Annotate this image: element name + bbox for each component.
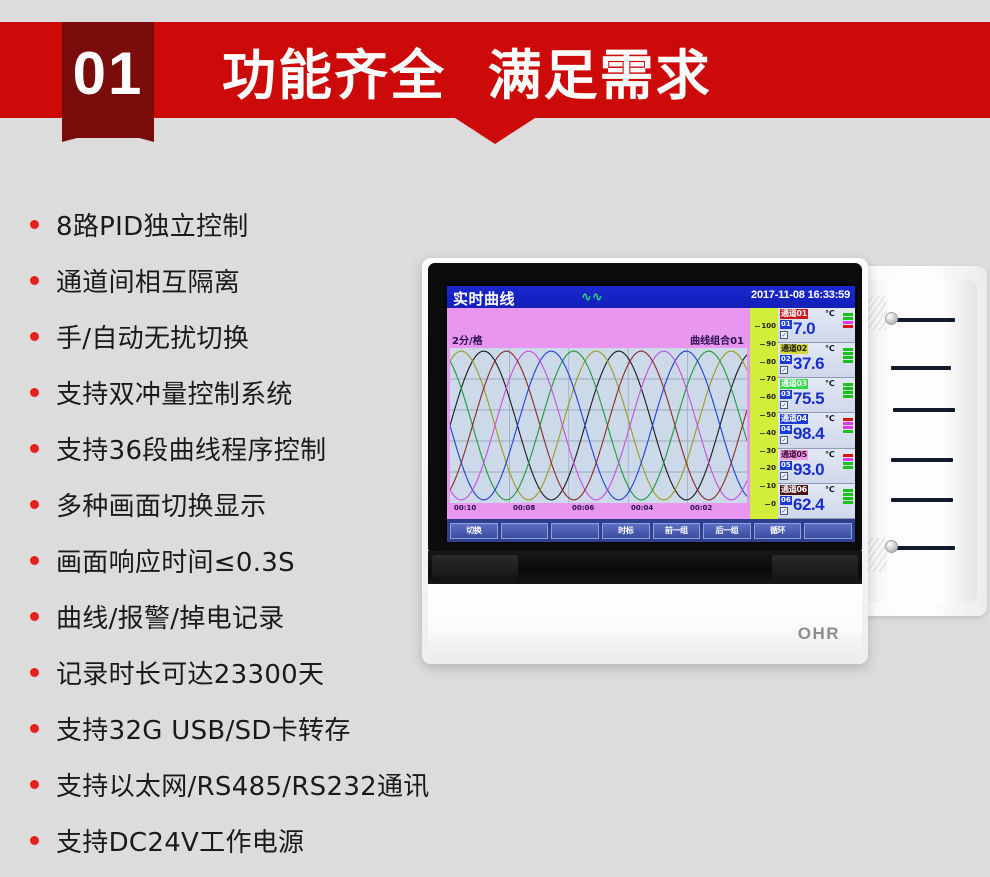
alarm-bar-segment [843,501,853,504]
channel-index: 02 [780,355,792,364]
alarm-bar-segment [843,430,853,433]
alarm-bar-segment [843,426,853,429]
y-tick-label: 30 [766,447,776,455]
terminal-screw [885,312,898,325]
list-item: 通道间相互隔离 [30,252,460,308]
channel-index: 06 [780,496,792,505]
x-tick-label: 00:06 [572,504,594,512]
softkey-empty[interactable] [501,523,549,539]
channel-unit: ℃ [825,450,835,459]
feature-label: 画面响应时间≤0.3S [56,542,295,579]
alarm-bar-segment [843,360,853,363]
terminal-screw [885,540,898,553]
alarm-bar-segment [843,395,853,398]
channel-tag: 通道01 [780,309,808,319]
channel-row[interactable]: 通道03℃03✓75.5 [778,378,855,413]
y-tick-label: 20 [766,464,776,472]
screen-glass: 实时曲线 ∿∿ 2017-11-08 16:33:59 2分/格 曲线组合01 … [444,283,858,545]
alarm-bar-segment [843,352,853,355]
right-key-pad[interactable] [772,555,858,580]
screen-timestamp: 2017-11-08 16:33:59 [751,289,850,301]
channel-enable-checkbox[interactable]: ✓ [780,401,788,409]
channel-unit: ℃ [825,379,835,388]
page-title: 功能齐全 满足需求 [222,22,712,118]
trend-svg [450,348,747,503]
channel-alarm-bars [843,454,853,469]
channel-index: 04 [780,425,792,434]
feature-label: 多种画面切换显示 [56,486,266,523]
list-item: 支持32G USB/SD卡转存 [30,700,460,756]
channel-row[interactable]: 通道05℃05✓93.0 [778,449,855,484]
rear-terminal-plate [857,280,977,602]
bullet-icon [30,276,39,285]
bullet-icon [30,668,39,677]
x-tick-label: 00:04 [631,504,653,512]
softkey-后一组[interactable]: 后一组 [703,523,751,539]
bullet-icon [30,836,39,845]
x-tick-label: 00:10 [454,504,476,512]
y-tick-label: 100 [761,322,776,330]
alarm-bar-segment [843,493,853,496]
chart-y-axis: 1009080706050403020100 [750,308,778,519]
channel-readout-panel: 通道01℃01✓7.0通道02℃02✓37.6通道03℃03✓75.5通道04℃… [778,308,855,519]
y-tick-label: 70 [766,375,776,383]
channel-value: 62.4 [793,495,824,515]
feature-list: 8路PID独立控制 通道间相互隔离 手/自动无扰切换 支持双冲量控制系统 支持3… [30,196,460,868]
channel-alarm-bars [843,383,853,398]
channel-value: 7.0 [793,319,815,339]
list-item: 支持双冲量控制系统 [30,364,460,420]
screen-bezel: 实时曲线 ∿∿ 2017-11-08 16:33:59 2分/格 曲线组合01 … [428,263,862,551]
list-item: 多种画面切换显示 [30,476,460,532]
y-tick-label: 10 [766,482,776,490]
channel-enable-checkbox[interactable]: ✓ [780,366,788,374]
device-front-panel: 实时曲线 ∿∿ 2017-11-08 16:33:59 2分/格 曲线组合01 … [422,258,868,664]
lcd-screen: 实时曲线 ∿∿ 2017-11-08 16:33:59 2分/格 曲线组合01 … [447,286,855,542]
terminal-strip [895,546,955,550]
list-item: 记录时长可达23300天 [30,644,460,700]
alarm-bar-segment [843,387,853,390]
channel-row[interactable]: 通道06℃06✓62.4 [778,484,855,519]
alarm-bar-segment [843,458,853,461]
alarm-bar-segment [843,383,853,386]
feature-label: 支持以太网/RS485/RS232通讯 [56,766,430,803]
terminal-strip [891,498,953,502]
bullet-icon [30,612,39,621]
alarm-bar-segment [843,454,853,457]
curve-group-label: 曲线组合01 [690,332,744,347]
softkey-循环[interactable]: 循环 [754,523,802,539]
feature-label: 8路PID独立控制 [56,206,249,243]
feature-label: 记录时长可达23300天 [56,654,324,691]
wave-logo-icon: ∿∿ [581,290,603,305]
softkey-前一组[interactable]: 前一组 [653,523,701,539]
terminal-strip [893,408,955,412]
list-item: 支持DC24V工作电源 [30,812,460,868]
list-item: 8路PID独立控制 [30,196,460,252]
alarm-bar-segment [843,497,853,500]
y-tick-label: 40 [766,429,776,437]
feature-label: 支持双冲量控制系统 [56,374,293,411]
alarm-bar-segment [843,317,853,320]
channel-unit: ℃ [825,309,835,318]
feature-label: 支持36段曲线程序控制 [56,430,326,467]
banner-notch [455,118,535,144]
alarm-bar-segment [843,418,853,421]
bullet-icon [30,780,39,789]
device-rear-housing [847,266,987,616]
brand-logo: OHR [798,624,840,644]
softkey-empty[interactable] [804,523,852,539]
list-item: 支持36段曲线程序控制 [30,420,460,476]
bullet-icon [30,388,39,397]
trend-chart[interactable] [450,348,747,503]
channel-alarm-bars [843,313,853,328]
bullet-icon [30,724,39,733]
bullet-icon [30,220,39,229]
alarm-bar-segment [843,466,853,469]
channel-row[interactable]: 通道02℃02✓37.6 [778,343,855,378]
channel-unit: ℃ [825,414,835,423]
section-number: 01 [73,44,144,104]
screen-title: 实时曲线 [453,288,515,309]
channel-enable-checkbox[interactable]: ✓ [780,472,788,480]
time-scale-label: 2分/格 [452,332,483,347]
feature-label: 支持DC24V工作电源 [56,822,304,859]
channel-unit: ℃ [825,485,835,494]
channel-row[interactable]: 通道01℃01✓7.0 [778,308,855,343]
list-item: 手/自动无扰切换 [30,308,460,364]
list-item: 支持以太网/RS485/RS232通讯 [30,756,460,812]
alarm-bar-segment [843,321,853,324]
channel-tag: 通道03 [780,379,808,389]
trend-line [450,351,747,500]
list-item: 曲线/报警/掉电记录 [30,588,460,644]
bullet-icon [30,556,39,565]
ribbon-tail [62,116,154,142]
bullet-icon [30,500,39,509]
y-tick-label: 80 [766,358,776,366]
channel-row[interactable]: 通道04℃04✓98.4 [778,413,855,448]
channel-value: 37.6 [793,354,824,374]
bullet-icon [30,444,39,453]
list-item: 画面响应时间≤0.3S [30,532,460,588]
channel-unit: ℃ [825,344,835,353]
softkey-时标[interactable]: 时标 [602,523,650,539]
alarm-bar-segment [843,313,853,316]
y-tick-label: 90 [766,340,776,348]
channel-index: 05 [780,461,792,470]
channel-value: 75.5 [793,389,824,409]
left-key-pad[interactable] [432,555,518,580]
alarm-bar-segment [843,489,853,492]
x-tick-label: 00:08 [513,504,535,512]
alarm-bar-segment [843,462,853,465]
terminal-strip [891,458,953,462]
product-device: 实时曲线 ∿∿ 2017-11-08 16:33:59 2分/格 曲线组合01 … [422,258,990,668]
feature-label: 曲线/报警/掉电记录 [56,598,285,635]
channel-tag: 通道05 [780,450,808,460]
y-tick-label: 50 [766,411,776,419]
channel-alarm-bars [843,418,853,433]
alarm-bar-segment [843,391,853,394]
channel-value: 93.0 [793,460,824,480]
y-tick-label: 0 [771,500,776,508]
feature-label: 通道间相互隔离 [56,262,240,299]
bullet-icon [30,332,39,341]
promo-page: 01 功能齐全 满足需求 8路PID独立控制 通道间相互隔离 手/自动无扰切换 … [0,0,990,877]
softkey-bar: 切换时标前一组后一组循环 [447,519,855,542]
channel-index: 03 [780,390,792,399]
channel-alarm-bars [843,348,853,363]
channel-tag: 通道06 [780,485,808,495]
lower-bezel: OHR [428,584,862,658]
channel-value: 98.4 [793,424,824,444]
terminal-strip [891,366,951,370]
softkey-切换[interactable]: 切换 [450,523,498,539]
alarm-bar-segment [843,356,853,359]
alarm-bar-segment [843,422,853,425]
channel-index: 01 [780,320,792,329]
channel-enable-checkbox[interactable]: ✓ [780,331,788,339]
channel-alarm-bars [843,489,853,504]
alarm-bar-segment [843,325,853,328]
terminal-strip [893,318,955,322]
channel-enable-checkbox[interactable]: ✓ [780,507,788,515]
softkey-empty[interactable] [551,523,599,539]
plot-band: 2分/格 曲线组合01 00:1000:0800:0600:0400:02 [447,308,750,519]
channel-enable-checkbox[interactable]: ✓ [780,436,788,444]
feature-label: 手/自动无扰切换 [56,318,249,355]
y-tick-label: 60 [766,393,776,401]
chart-x-axis: 00:1000:0800:0600:0400:02 [450,504,747,517]
channel-tag: 通道04 [780,414,808,424]
alarm-bar-segment [843,348,853,351]
channel-tag: 通道02 [780,344,808,354]
x-tick-label: 00:02 [690,504,712,512]
feature-label: 支持32G USB/SD卡转存 [56,710,351,747]
